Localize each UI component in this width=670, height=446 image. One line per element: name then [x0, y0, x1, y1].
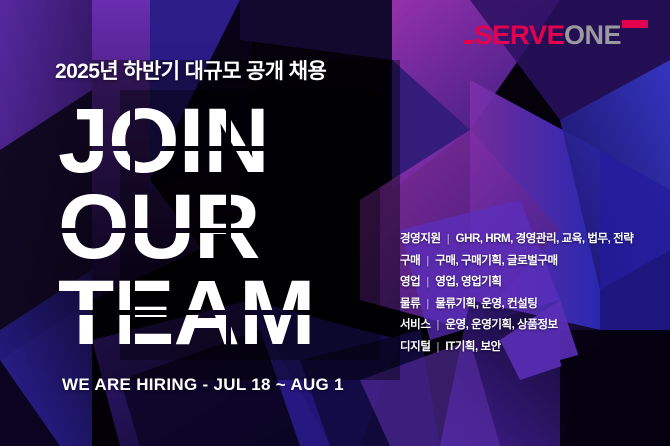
hiring-period-text: WE ARE HIRING - JUL 18 ~ AUG 1: [62, 375, 344, 395]
serveone-logo: SERVE ONE: [464, 22, 648, 49]
job-separator: |: [447, 233, 450, 245]
job-separator: |: [437, 341, 440, 353]
job-category: 영업: [400, 273, 420, 289]
job-category: 디지털: [400, 338, 431, 354]
logo-dash-icon: [464, 40, 474, 44]
job-separator: |: [426, 255, 429, 267]
job-category: 서비스: [400, 316, 431, 332]
logo-accent-mark-icon: [622, 20, 648, 28]
logo-serve-text: SERVE: [475, 22, 565, 49]
job-category: 경영지원: [400, 230, 441, 246]
job-roles: IT기획, 보안: [445, 338, 500, 354]
job-roles: 구매, 구매기획, 글로벌구매: [435, 252, 557, 268]
job-category: 구매: [400, 252, 420, 268]
kicker-headline: 2025년 하반기 대규모 공개 채용: [55, 55, 326, 85]
job-roles: 물류기획, 운영, 컨설팅: [435, 295, 537, 311]
job-roles: 운영, 운영기획, 상품정보: [445, 316, 557, 332]
join-our-team-wordmark: JOIN OUR TEAM: [58, 100, 388, 358]
job-row: 디지털 | IT기획, 보안: [400, 338, 650, 354]
job-category-list: 경영지원 | GHR, HRM, 경영관리, 교육, 법무, 전략 구매 | 구…: [400, 230, 650, 359]
job-row: 경영지원 | GHR, HRM, 경영관리, 교육, 법무, 전략: [400, 230, 650, 246]
job-row: 구매 | 구매, 구매기획, 글로벌구매: [400, 252, 650, 268]
logo-one-text: ONE: [564, 22, 621, 49]
job-separator: |: [437, 319, 440, 331]
job-separator: |: [426, 276, 429, 288]
job-row: 영업 | 영업, 영업기획: [400, 273, 650, 289]
wordmark-line-3: TEAM: [58, 262, 315, 364]
job-row: 서비스 | 운영, 운영기획, 상품정보: [400, 316, 650, 332]
job-roles: GHR, HRM, 경영관리, 교육, 법무, 전략: [456, 230, 634, 246]
recruitment-banner: SERVE ONE 2025년 하반기 대규모 공개 채용: [0, 0, 670, 446]
job-separator: |: [426, 298, 429, 310]
job-roles: 영업, 영업기획: [435, 273, 501, 289]
job-row: 물류 | 물류기획, 운영, 컨설팅: [400, 295, 650, 311]
job-category: 물류: [400, 295, 420, 311]
